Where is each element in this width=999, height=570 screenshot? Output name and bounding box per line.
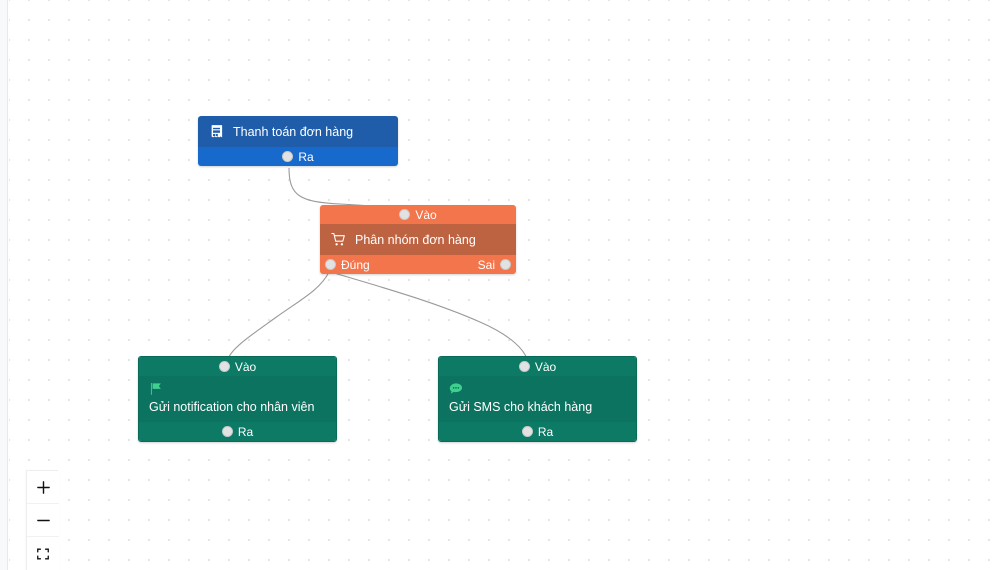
flag-icon xyxy=(149,382,164,397)
node-gui-notification-cho-nhan-vien[interactable]: Vào Gửi notification cho nhân viên Ra xyxy=(138,356,337,442)
node-input-band: Vào xyxy=(320,205,516,224)
port-in-vao[interactable]: Vào xyxy=(519,361,556,373)
port-label: Vào xyxy=(535,361,556,373)
flow-canvas[interactable] xyxy=(9,0,999,570)
node-title: Gửi SMS cho khách hàng xyxy=(449,400,626,414)
flow-editor: Thanh toán đơn hàng Ra Vào xyxy=(0,0,999,570)
node-phan-nhom-don-hang[interactable]: Vào Phân nhóm đơn hàng Đúng Sai xyxy=(320,205,516,274)
port-dot[interactable] xyxy=(282,151,293,162)
port-label: Đúng xyxy=(341,259,370,271)
port-dot[interactable] xyxy=(522,426,533,437)
port-out-sai[interactable]: Sai xyxy=(478,259,511,271)
plus-icon xyxy=(36,480,51,495)
node-title: Gửi notification cho nhân viên xyxy=(149,400,326,414)
port-label: Vào xyxy=(415,209,436,221)
port-label: Sai xyxy=(478,259,495,271)
port-label: Ra xyxy=(538,426,553,438)
node-title: Phân nhóm đơn hàng xyxy=(355,233,476,247)
port-dot[interactable] xyxy=(399,209,410,220)
node-output-band: Ra xyxy=(139,422,336,441)
port-in-vao[interactable]: Vào xyxy=(219,361,256,373)
port-in-vao[interactable]: Vào xyxy=(399,209,436,221)
port-dot[interactable] xyxy=(519,361,530,372)
fit-view-icon xyxy=(36,547,50,561)
port-dot[interactable] xyxy=(219,361,230,372)
node-output-band: Ra xyxy=(198,147,398,166)
port-label: Ra xyxy=(238,426,253,438)
zoom-out-button[interactable] xyxy=(27,504,59,537)
port-out-ra[interactable]: Ra xyxy=(282,151,313,163)
node-body: Thanh toán đơn hàng xyxy=(198,116,398,147)
port-out-ra[interactable]: Ra xyxy=(222,426,253,438)
minus-icon xyxy=(36,513,51,528)
port-out-ra[interactable]: Ra xyxy=(522,426,553,438)
port-label: Vào xyxy=(235,361,256,373)
shopping-cart-icon xyxy=(331,232,346,247)
left-rail xyxy=(0,0,8,570)
receipt-icon xyxy=(209,124,224,139)
port-label: Ra xyxy=(298,151,313,163)
port-dot[interactable] xyxy=(500,259,511,270)
node-body: Gửi SMS cho khách hàng xyxy=(439,376,636,422)
zoom-controls xyxy=(26,470,58,570)
node-input-band: Vào xyxy=(139,357,336,376)
port-dot[interactable] xyxy=(325,259,336,270)
fit-view-button[interactable] xyxy=(27,537,59,570)
node-output-band: Đúng Sai xyxy=(320,255,516,274)
node-input-band: Vào xyxy=(439,357,636,376)
port-out-dung[interactable]: Đúng xyxy=(325,259,370,271)
comment-icon xyxy=(449,382,464,397)
node-body: Phân nhóm đơn hàng xyxy=(320,224,516,255)
node-output-band: Ra xyxy=(439,422,636,441)
node-gui-sms-cho-khach-hang[interactable]: Vào Gửi SMS cho khách hàng Ra xyxy=(438,356,637,442)
port-dot[interactable] xyxy=(222,426,233,437)
node-title: Thanh toán đơn hàng xyxy=(233,125,353,139)
zoom-in-button[interactable] xyxy=(27,471,59,504)
node-thanh-toan-don-hang[interactable]: Thanh toán đơn hàng Ra xyxy=(198,116,398,166)
node-body: Gửi notification cho nhân viên xyxy=(139,376,336,422)
